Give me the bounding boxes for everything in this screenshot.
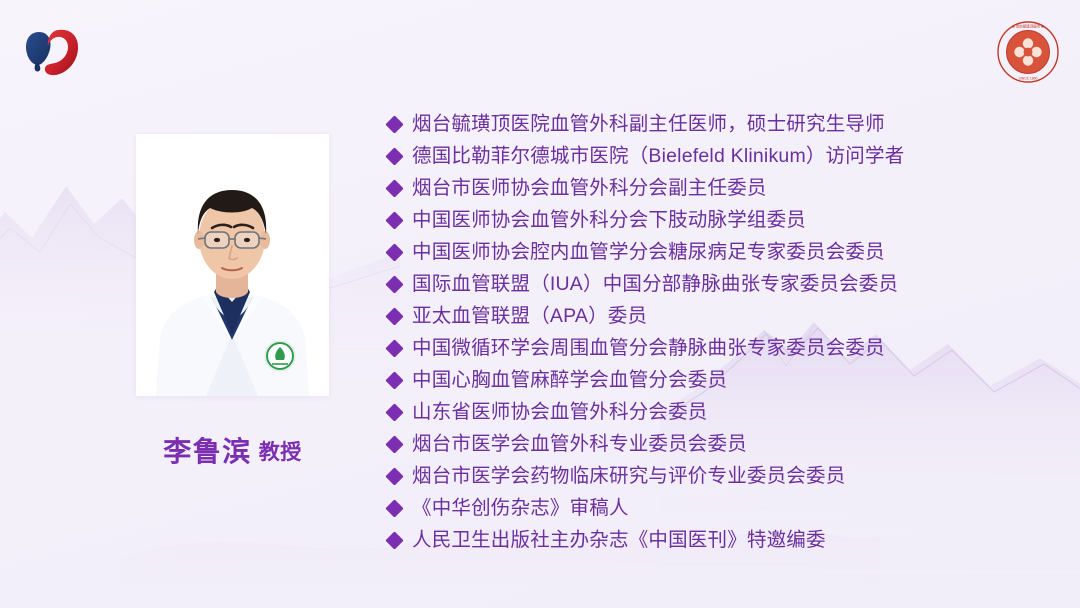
diamond-bullet-icon xyxy=(385,243,403,261)
diamond-bullet-icon xyxy=(385,115,403,133)
credential-item: 烟台毓璜顶医院血管外科副主任医师，硕士研究生导师 xyxy=(388,108,1048,140)
speaker-portrait-block: 李鲁滨教授 xyxy=(136,134,329,470)
speaker-name-row: 李鲁滨教授 xyxy=(136,430,329,470)
credential-text: 《中华创伤杂志》审稿人 xyxy=(412,492,629,524)
diamond-bullet-icon xyxy=(385,467,403,485)
credential-item: 烟台市医学会血管外科专业委员会委员 xyxy=(388,428,1048,460)
credential-item: 中国微循环学会周围血管分会静脉曲张专家委员会委员 xyxy=(388,332,1048,364)
hospital-emblem-icon: ★ 烟台毓璜顶医院 ★ SINCE 1890 xyxy=(997,21,1059,83)
svg-text:★ 烟台毓璜顶医院 ★: ★ 烟台毓璜顶医院 ★ xyxy=(1012,24,1045,29)
credential-text: 烟台市医师协会血管外科分会副主任委员 xyxy=(412,172,767,204)
diamond-bullet-icon xyxy=(385,371,403,389)
credential-item: 中国医师协会血管外科分会下肢动脉学组委员 xyxy=(388,204,1048,236)
diamond-bullet-icon xyxy=(385,499,403,517)
credential-text: 中国医师协会腔内血管学分会糖尿病足专家委员会委员 xyxy=(412,236,885,268)
credential-text: 烟台市医学会药物临床研究与评价专业委员会委员 xyxy=(412,460,845,492)
credential-item: 山东省医师协会血管外科分会委员 xyxy=(388,396,1048,428)
credential-text: 烟台市医学会血管外科专业委员会委员 xyxy=(412,428,747,460)
credential-item: 德国比勒菲尔德城市医院（Bielefeld Klinikum）访问学者 xyxy=(388,140,1048,172)
credential-text: 中国医师协会血管外科分会下肢动脉学组委员 xyxy=(412,204,806,236)
credential-item: 《中华创伤杂志》审稿人 xyxy=(388,492,1048,524)
credential-item: 烟台市医学会药物临床研究与评价专业委员会委员 xyxy=(388,460,1048,492)
diamond-bullet-icon xyxy=(385,307,403,325)
credential-text: 人民卫生出版社主办杂志《中国医刊》特邀编委 xyxy=(412,524,826,556)
credential-text: 亚太血管联盟（APA）委员 xyxy=(412,300,647,332)
speaker-title: 教授 xyxy=(259,441,302,464)
svg-text:SINCE 1890: SINCE 1890 xyxy=(1019,77,1038,81)
diamond-bullet-icon xyxy=(385,339,403,357)
credential-text: 烟台毓璜顶医院血管外科副主任医师，硕士研究生导师 xyxy=(412,108,885,140)
diamond-bullet-icon xyxy=(385,403,403,421)
credential-text: 中国心胸血管麻醉学会血管分会委员 xyxy=(412,364,727,396)
credential-item: 中国医师协会腔内血管学分会糖尿病足专家委员会委员 xyxy=(388,236,1048,268)
diamond-bullet-icon xyxy=(385,147,403,165)
credential-text: 国际血管联盟（IUA）中国分部静脉曲张专家委员会委员 xyxy=(412,268,898,300)
diamond-bullet-icon xyxy=(385,531,403,549)
diamond-bullet-icon xyxy=(385,211,403,229)
credential-item: 国际血管联盟（IUA）中国分部静脉曲张专家委员会委员 xyxy=(388,268,1048,300)
credential-item: 中国心胸血管麻醉学会血管分会委员 xyxy=(388,364,1048,396)
credential-item: 亚太血管联盟（APA）委员 xyxy=(388,300,1048,332)
speaker-photo xyxy=(136,134,329,396)
diamond-bullet-icon xyxy=(385,275,403,293)
credentials-list: 烟台毓璜顶医院血管外科副主任医师，硕士研究生导师 德国比勒菲尔德城市医院（Bie… xyxy=(388,108,1048,556)
credential-text: 德国比勒菲尔德城市医院（Bielefeld Klinikum）访问学者 xyxy=(412,140,904,172)
diamond-bullet-icon xyxy=(385,179,403,197)
diamond-bullet-icon xyxy=(385,435,403,453)
credential-text: 山东省医师协会血管外科分会委员 xyxy=(412,396,708,428)
speaker-profile-slide: ★ 烟台毓璜顶医院 ★ SINCE 1890 xyxy=(0,0,1080,608)
credential-item: 人民卫生出版社主办杂志《中国医刊》特邀编委 xyxy=(388,524,1048,556)
credential-item: 烟台市医师协会血管外科分会副主任委员 xyxy=(388,172,1048,204)
speaker-name: 李鲁滨 xyxy=(163,436,252,467)
brand-logo-icon xyxy=(17,20,89,82)
credential-text: 中国微循环学会周围血管分会静脉曲张专家委员会委员 xyxy=(412,332,885,364)
